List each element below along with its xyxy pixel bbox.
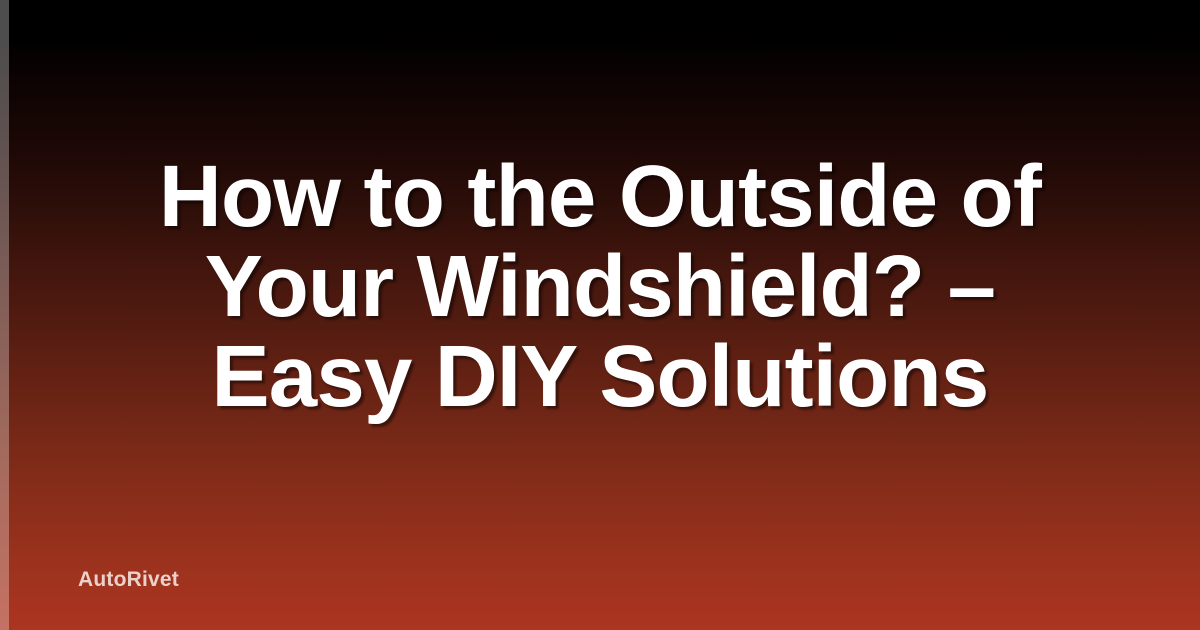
brand-logo-text: AutoRivet	[78, 568, 179, 592]
page-title: How to the Outside of Your Windshield? –…	[56, 152, 1144, 422]
og-share-card: How to the Outside of Your Windshield? –…	[0, 0, 1200, 630]
hero-title-block: How to the Outside of Your Windshield? –…	[0, 152, 1200, 422]
